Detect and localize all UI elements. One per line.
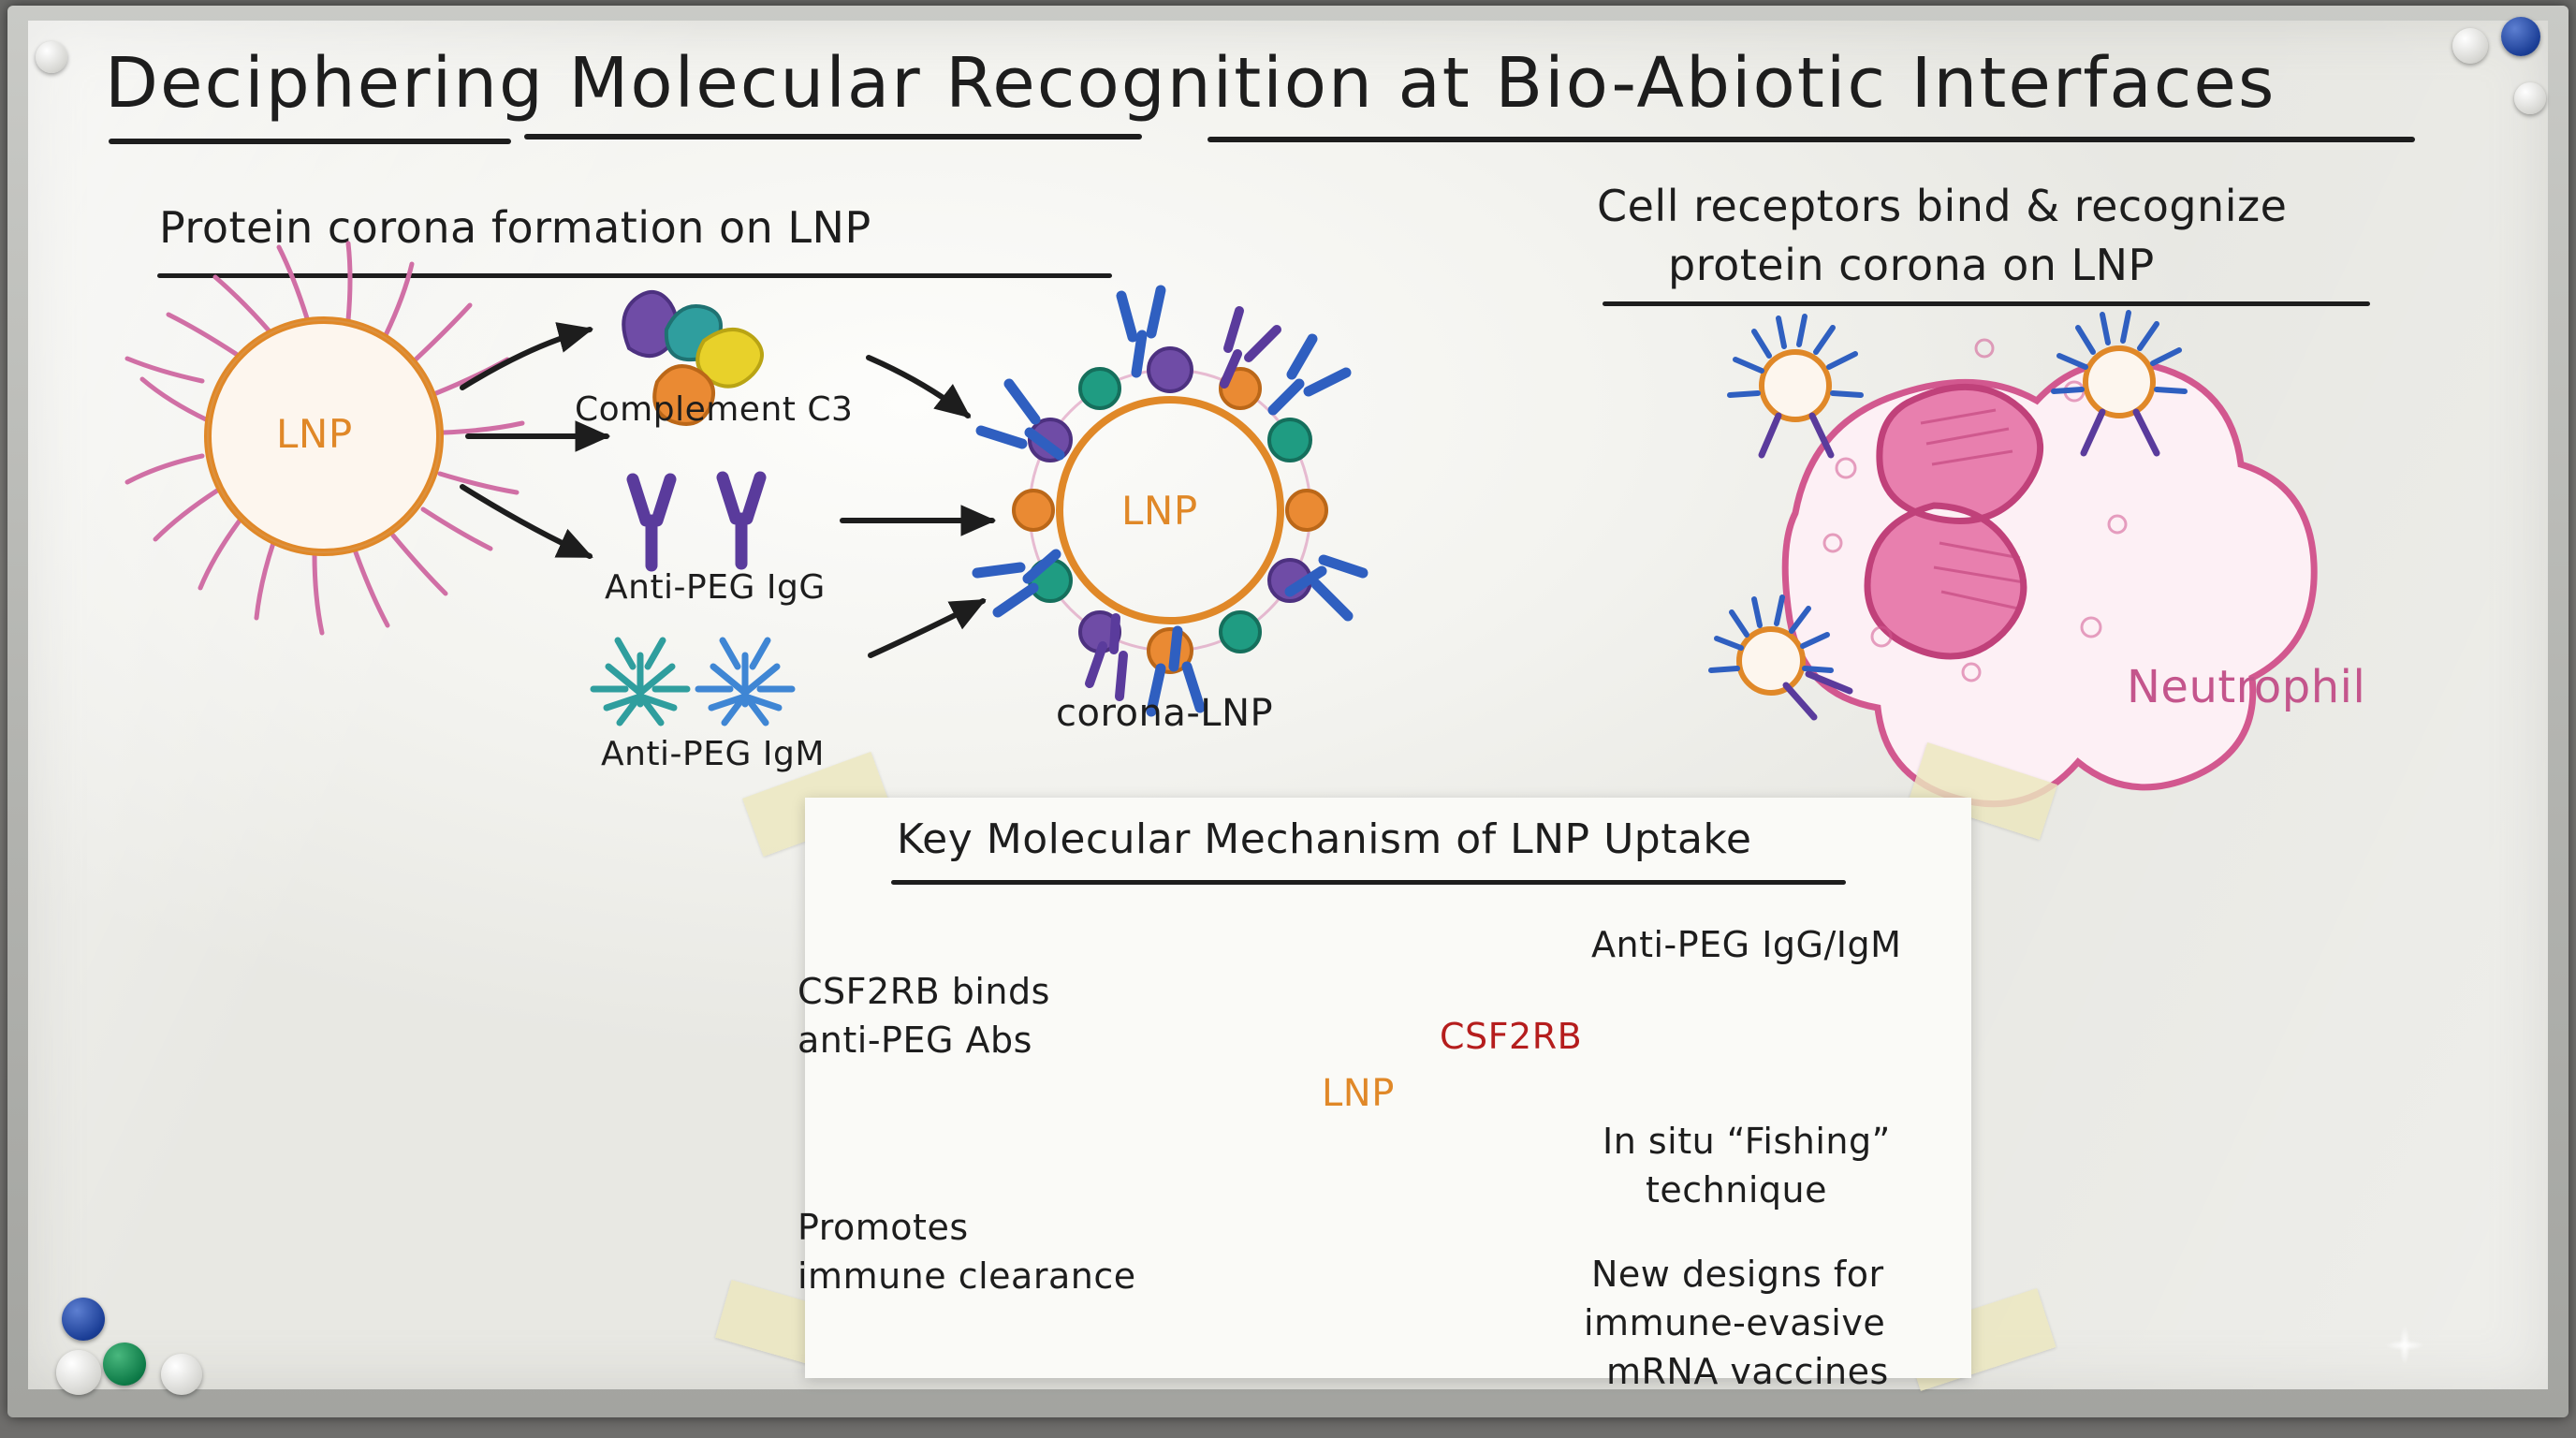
arrow-group-left — [462, 330, 607, 556]
sparkle-decoration — [2374, 1314, 2436, 1376]
bullet-2-line1: New designs for — [1591, 1255, 1884, 1295]
corona-lnp-label: corona-LNP — [1056, 693, 1273, 735]
arrow-igm-to-corona — [871, 601, 983, 655]
arrow-to-c3 — [462, 330, 590, 388]
label-anti-peg-igg: Anti-PEG IgG — [605, 569, 826, 607]
corona-lnp-inner-label: LNP — [1121, 489, 1198, 533]
whiteboard-photo: Deciphering Molecular Recognition at Bio… — [0, 0, 2576, 1438]
bullet-1-line2: technique — [1646, 1170, 1827, 1211]
bullet-1-line1: In situ “Fishing” — [1603, 1122, 1891, 1162]
note-csf2rb-binds-line2: anti-PEG Abs — [798, 1020, 1032, 1061]
lnp-bare-label: LNP — [276, 412, 353, 456]
arrow-group-converge — [842, 358, 992, 655]
note-csf2rb-binds-line1: CSF2RB binds — [798, 972, 1050, 1012]
neutrophil-label: Neutrophil — [2127, 663, 2365, 713]
neutrophil-cell — [1785, 340, 2314, 804]
label-anti-peg-igm: Anti-PEG IgM — [601, 736, 825, 773]
note-promotes-line2: immune clearance — [798, 1256, 1136, 1297]
arrow-c3-to-corona — [869, 358, 968, 416]
anti-peg-igm-icon — [593, 640, 792, 723]
bullet-2-line3: mRNA vaccines — [1606, 1352, 1889, 1392]
label-anti-peg-igg-igm: Anti-PEG IgG/IgM — [1591, 925, 1901, 965]
note-promotes-line1: Promotes — [798, 1208, 969, 1248]
anti-peg-igg-icon — [633, 477, 760, 565]
panel-heading: Key Molecular Mechanism of LNP Uptake — [897, 816, 1751, 862]
bottom-lnp-label: LNP — [1322, 1073, 1395, 1115]
bullet-2-line2: immune-evasive — [1584, 1303, 1885, 1343]
panel-heading-underline — [891, 880, 1846, 885]
label-complement-c3: Complement C3 — [575, 391, 853, 429]
label-csf2rb: CSF2RB — [1440, 1017, 1582, 1057]
